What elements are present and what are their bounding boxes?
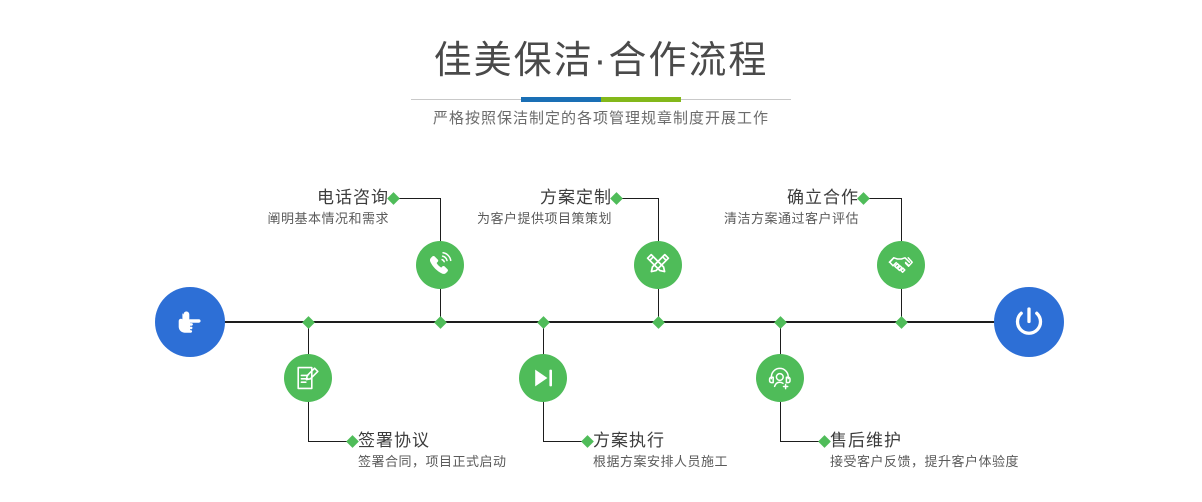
pointing-hand-icon	[170, 302, 210, 342]
pencil-ruler-icon	[644, 251, 672, 279]
step-icon-establish-cooperation[interactable]	[877, 241, 925, 289]
label-diamond-up-3	[857, 192, 870, 205]
step-desc: 清洁方案通过客户评估	[604, 209, 859, 229]
axis-diamond-down-3	[774, 316, 787, 329]
axis-diamond-up-2	[652, 316, 665, 329]
handshake-icon	[887, 251, 915, 279]
step-label-phone-consult: 电话咨询 阐明基本情况和需求	[134, 187, 389, 229]
label-diamond-down-1	[346, 435, 359, 448]
step-label-establish-cooperation: 确立合作 清洁方案通过客户评估	[604, 187, 859, 229]
step-icon-phone-consult[interactable]	[416, 241, 464, 289]
document-edit-icon	[294, 364, 322, 392]
step-desc: 为客户提供项目策策划	[357, 209, 612, 229]
process-flow-infographic: 佳美保洁·合作流程 严格按照保洁制定的各项管理规章制度开展工作	[0, 0, 1202, 502]
step-title: 售后维护	[830, 430, 1130, 452]
step-icon-sign-agreement[interactable]	[284, 354, 332, 402]
step-desc: 接受客户反馈，提升客户体验度	[830, 452, 1130, 472]
timeline-start-node[interactable]	[155, 287, 225, 357]
page-title: 佳美保洁·合作流程	[0, 38, 1202, 84]
phone-call-icon	[426, 251, 454, 279]
step-icon-plan-execute[interactable]	[519, 354, 567, 402]
step-label-plan-customize: 方案定制 为客户提供项目策策划	[357, 187, 612, 229]
divider-segment-blue	[521, 97, 601, 102]
step-icon-after-sales[interactable]	[756, 354, 804, 402]
headset-support-icon	[766, 364, 794, 392]
power-icon	[1008, 301, 1050, 343]
step-title: 确立合作	[604, 187, 859, 209]
title-divider	[411, 97, 791, 102]
axis-diamond-up-1	[434, 316, 447, 329]
play-execute-icon	[529, 364, 557, 392]
step-label-after-sales: 售后维护 接受客户反馈，提升客户体验度	[830, 430, 1130, 472]
axis-diamond-down-1	[302, 316, 315, 329]
page-subtitle: 严格按照保洁制定的各项管理规章制度开展工作	[0, 107, 1202, 131]
axis-diamond-down-2	[537, 316, 550, 329]
step-desc: 阐明基本情况和需求	[134, 209, 389, 229]
step-title: 电话咨询	[134, 187, 389, 209]
axis-diamond-up-3	[895, 316, 908, 329]
timeline-end-node[interactable]	[994, 287, 1064, 357]
step-icon-plan-customize[interactable]	[634, 241, 682, 289]
divider-segment-green	[601, 97, 681, 102]
step-title: 方案定制	[357, 187, 612, 209]
